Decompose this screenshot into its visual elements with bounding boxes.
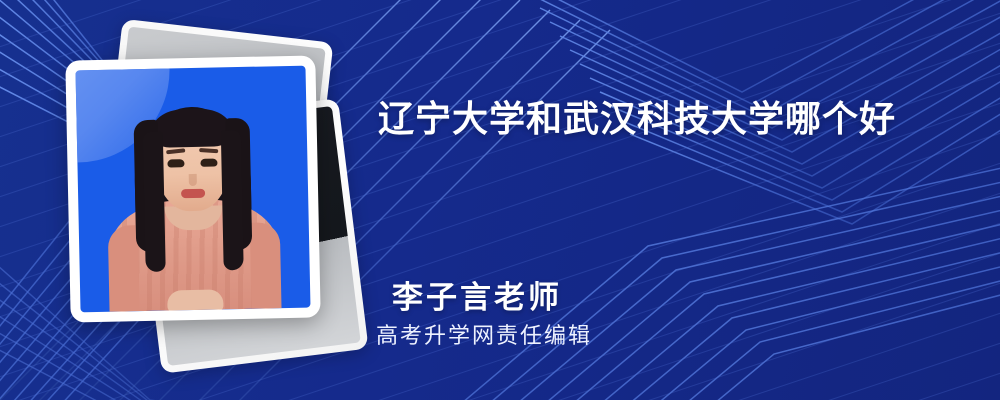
shoulder-left-shape [108,225,140,312]
portrait-figure [75,66,310,313]
shoulder-right-shape [250,222,282,309]
eye-left-shape [167,159,184,167]
photo-card-stack [60,28,360,358]
author-role: 高考升学网责任编辑 [376,318,592,350]
photo-card-front [65,55,320,322]
hands-shape [167,289,223,312]
author-name: 李子言老师 [392,272,562,317]
hair-strand-right-shape [221,130,244,270]
editor-portrait-photo [75,66,310,313]
lips-shape [181,189,205,199]
hair-strand-left-shape [143,132,166,272]
banner-image: 辽宁大学和武汉科技大学哪个好 李子言老师 高考升学网责任编辑 [0,0,1000,400]
eye-right-shape [200,158,217,166]
page-title: 辽宁大学和武汉科技大学哪个好 [378,96,978,142]
nose-shape [189,174,197,186]
